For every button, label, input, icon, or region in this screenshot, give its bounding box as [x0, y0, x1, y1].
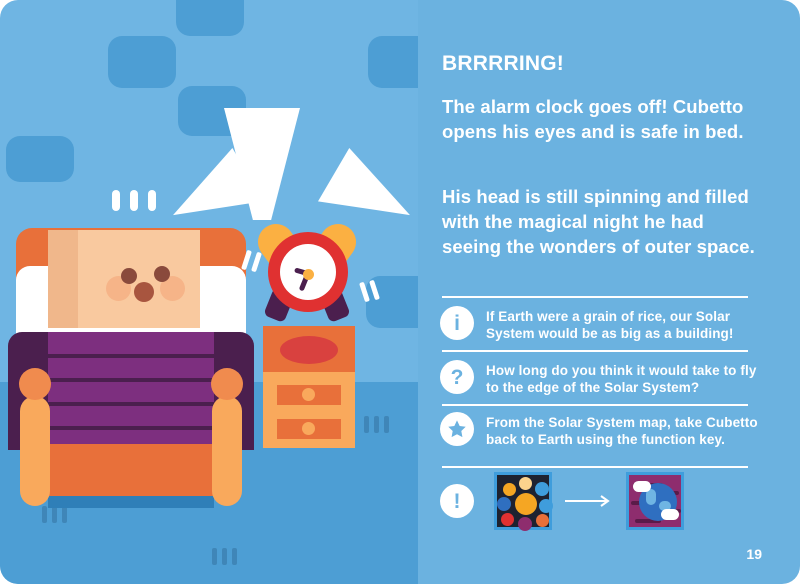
- blanket-stripe: [48, 354, 214, 358]
- star-icon: [440, 412, 474, 446]
- book-page: BRRRRING! The alarm clock goes off! Cube…: [0, 0, 800, 584]
- arrow-right-icon: [552, 494, 626, 508]
- drawer-knob: [302, 422, 315, 435]
- clock-pivot: [303, 269, 314, 280]
- text-panel: BRRRRING! The alarm clock goes off! Cube…: [418, 0, 800, 584]
- planet: [518, 517, 532, 531]
- divider: [442, 350, 748, 352]
- page-number: 19: [746, 546, 762, 562]
- blanket-stripe: [48, 378, 214, 382]
- action-row: !: [440, 472, 684, 530]
- nightstand: [263, 326, 355, 448]
- illustration-panel: [0, 0, 418, 584]
- blanket-stripe: [48, 426, 214, 430]
- sun: [515, 493, 537, 515]
- divider: [442, 296, 748, 298]
- tip-row-info: i If Earth were a grain of rice, our Sol…: [440, 306, 760, 342]
- wall-square: [108, 36, 176, 88]
- bed-post-knob-right: [211, 368, 243, 400]
- tip-text: If Earth were a grain of rice, our Solar…: [486, 306, 760, 342]
- divider: [442, 466, 748, 468]
- wall-dot: [148, 190, 156, 211]
- wall-dot: [130, 190, 138, 211]
- bed-post-knob-left: [19, 368, 51, 400]
- floor-mark: [232, 548, 237, 565]
- info-icon: i: [440, 306, 474, 340]
- story-paragraph-1: The alarm clock goes off! Cubetto opens …: [442, 94, 762, 144]
- floor-mark: [62, 506, 67, 523]
- planet: [497, 497, 511, 511]
- bed-post-left: [20, 396, 50, 506]
- exclamation-icon: !: [440, 484, 474, 518]
- cloud-icon: [633, 481, 651, 492]
- floor-mark: [222, 548, 227, 565]
- tip-text: From the Solar System map, take Cubetto …: [486, 412, 760, 448]
- nightstand-doily: [280, 336, 338, 364]
- cubetto-eye-right: [154, 266, 170, 282]
- planet: [519, 477, 532, 490]
- planet: [535, 482, 549, 496]
- bed: [8, 228, 254, 508]
- floor-mark: [52, 506, 57, 523]
- floor-mark: [364, 416, 369, 433]
- wall-dot: [112, 190, 120, 211]
- story-heading: BRRRRING!: [442, 52, 564, 76]
- drawer-knob: [302, 388, 315, 401]
- bed-post-right: [212, 396, 242, 506]
- cubetto-shadow: [48, 230, 78, 328]
- floor-mark: [212, 548, 217, 565]
- tip-row-question: ? How long do you think it would take to…: [440, 360, 760, 396]
- clock-body: [268, 232, 348, 312]
- cloud-icon: [661, 509, 679, 520]
- solar-system-map-tile[interactable]: [494, 472, 552, 530]
- tip-row-task: From the Solar System map, take Cubetto …: [440, 412, 760, 448]
- cubetto-eye-left: [121, 268, 137, 284]
- divider: [442, 404, 748, 406]
- wall-square: [176, 0, 244, 36]
- clock-face: [280, 244, 336, 300]
- planet: [503, 483, 516, 496]
- bed-blanket: [48, 332, 214, 450]
- floor-mark: [42, 506, 47, 523]
- bed-foot-shadow: [48, 496, 214, 508]
- wall-square: [368, 36, 418, 88]
- story-paragraph-2: His head is still spinning and filled wi…: [442, 184, 762, 259]
- planet: [536, 514, 549, 527]
- earth-map-tile[interactable]: [626, 472, 684, 530]
- floor-mark: [374, 416, 379, 433]
- planet: [501, 513, 514, 526]
- blanket-stripe: [48, 402, 214, 406]
- question-icon: ?: [440, 360, 474, 394]
- cubetto-nose: [134, 282, 154, 302]
- tip-text: How long do you think it would take to f…: [486, 360, 760, 396]
- wall-square: [6, 136, 74, 182]
- floor-mark: [384, 416, 389, 433]
- alarm-clock: [254, 218, 362, 324]
- planet: [539, 499, 553, 513]
